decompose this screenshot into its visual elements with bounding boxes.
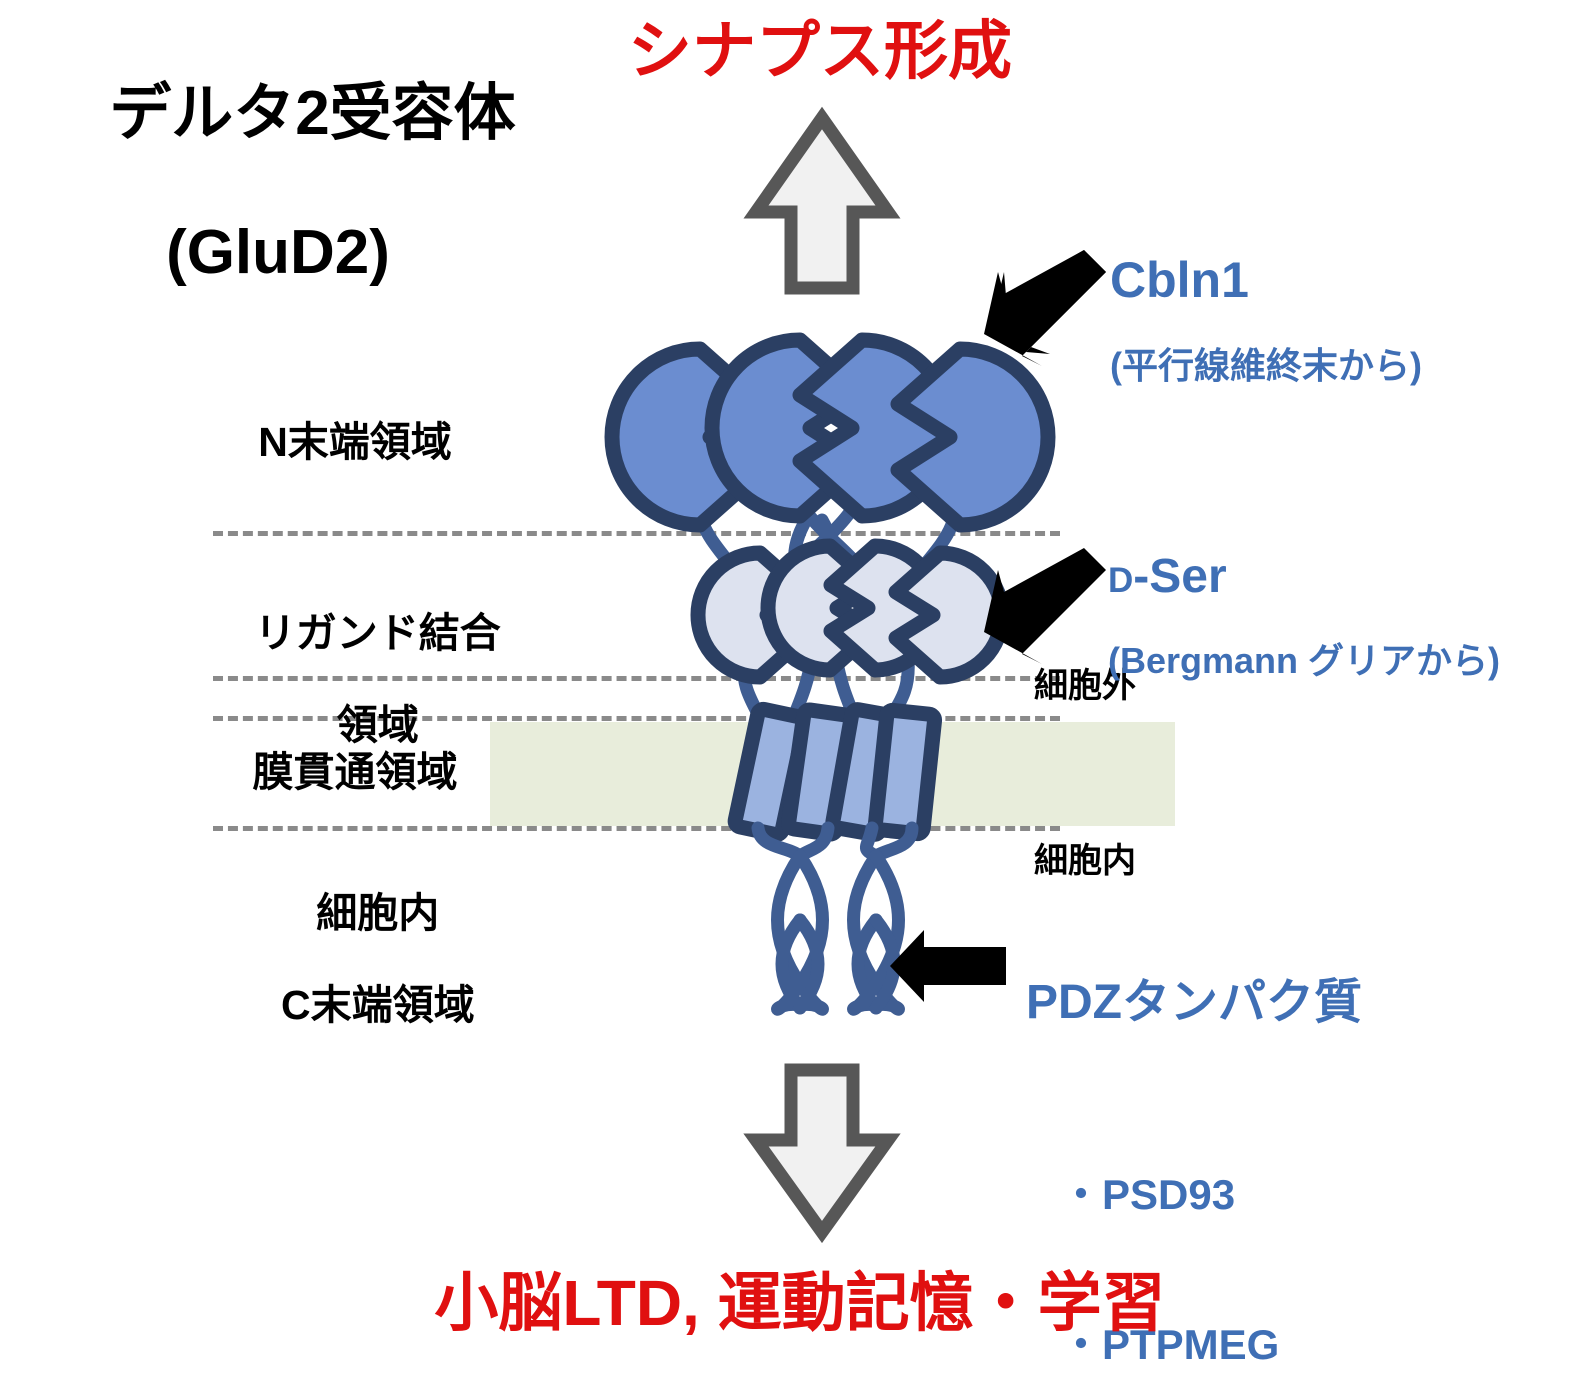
pdz-list: ・PSD93 ・PTPMEG ・デルフィリン など (1060, 1077, 1362, 1393)
pdz-name: PDZタンパク質 (1026, 976, 1362, 1030)
label-intracellular: 細胞内 (1034, 842, 1136, 880)
annotation-cbln1: Cbln1 (平行線維終末から) (1110, 216, 1422, 422)
cbln1-name: Cbln1 (1110, 252, 1422, 308)
pdz-list-item: ・PSD93 (1060, 1171, 1362, 1218)
down-block-arrow (756, 1070, 888, 1232)
dser-source: (Bergmann グリアから) (1108, 641, 1500, 681)
cbln1-source: (平行線維終末から) (1110, 346, 1422, 386)
cbln1-arrow (984, 250, 1106, 366)
label-ct-line2: C末端領域 (281, 982, 475, 1028)
annotation-dser: D-Ser (Bergmann グリアから) (1108, 514, 1500, 718)
label-transmembrane-domain: 膜貫通領域 (185, 750, 525, 796)
dser-arrow (984, 548, 1106, 664)
label-n-terminal-domain: N末端領域 (185, 420, 525, 466)
outcome-bottom-label: 小脳LTD, 運動記憶・学習 (330, 1268, 1270, 1340)
label-c-terminal-domain: 細胞内 C末端領域 (185, 845, 525, 1075)
dser-name: D-Ser (1108, 550, 1500, 604)
dser-residue: -Ser (1133, 550, 1226, 603)
outcome-top-label: シナプス形成 (560, 16, 1080, 88)
up-block-arrow (756, 118, 888, 288)
label-lbd-line2: 領域 (337, 702, 419, 748)
page-title-line2: (GluD2) (18, 218, 538, 287)
label-ct-line1: 細胞内 (316, 890, 439, 936)
page-title-line1: デルタ2受容体 (109, 79, 515, 148)
page-title: デルタ2受容体 (GluD2) (18, 10, 538, 427)
pdz-arrow (890, 930, 1006, 1002)
label-lbd-line1: リガンド結合 (255, 610, 501, 656)
dser-stereo-prefix: D (1108, 561, 1133, 600)
diagram-canvas: デルタ2受容体 (GluD2) シナプス形成 N末端領域 リガンド結合 領域 膜… (0, 0, 1594, 1393)
